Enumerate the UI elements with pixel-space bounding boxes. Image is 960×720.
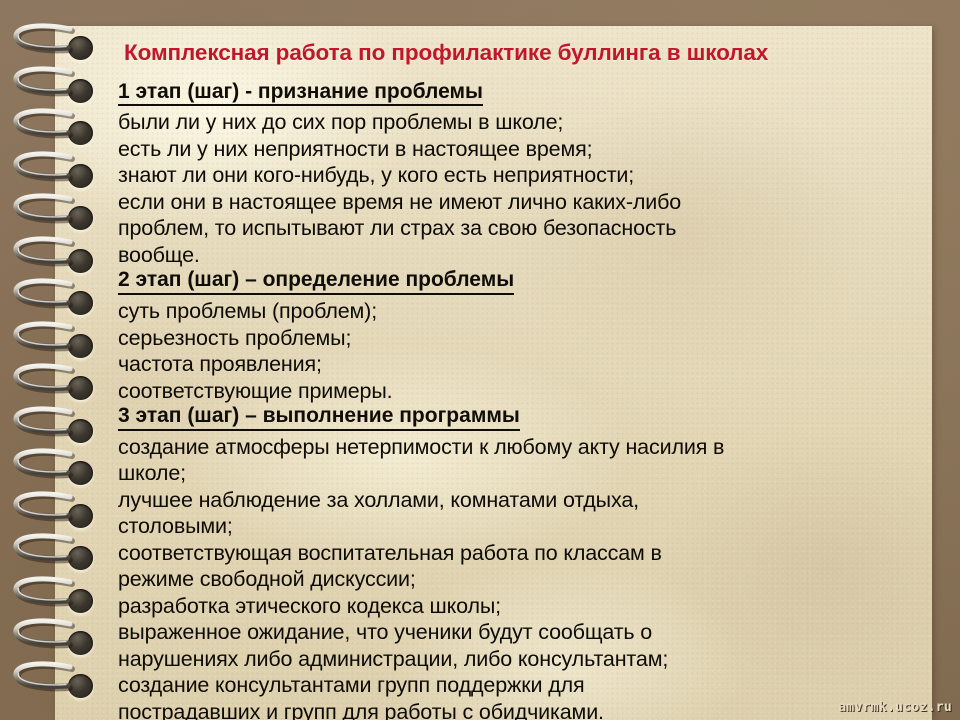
body-line: знают ли они кого-нибудь, у кого есть не… <box>118 162 918 189</box>
body-line: частота проявления; <box>118 351 918 378</box>
body-line: если они в настоящее время не имеют личн… <box>118 189 918 216</box>
step-heading-row: 2 этап (шаг) – определение проблемы <box>118 268 918 296</box>
binding-hole <box>68 546 93 570</box>
page-title: Комплексная работа по профилактике булли… <box>124 40 918 67</box>
step-heading: 2 этап (шаг) – определение проблемы <box>118 268 514 295</box>
binding-hole <box>68 164 93 188</box>
binding-hole <box>68 334 93 358</box>
body-line: суть проблемы (проблем); <box>118 298 918 325</box>
body-line: вообще. <box>118 242 918 269</box>
body-line: разработка этического кодекса школы; <box>118 593 918 620</box>
binding-hole <box>68 419 93 443</box>
body-line: проблем, то испытывают ли страх за свою … <box>118 215 918 242</box>
body-line: создание консультантами групп поддержки … <box>118 672 918 699</box>
binding-hole <box>68 291 93 315</box>
binding-hole <box>68 589 93 613</box>
binding-hole <box>68 376 93 400</box>
body-line: выраженное ожидание, что ученики будут с… <box>118 619 918 646</box>
step-section: 1 этап (шаг) - признание проблемыбыли ли… <box>118 80 918 269</box>
binding-hole <box>68 504 93 528</box>
body-line: пострадавших и групп для работы с обидчи… <box>118 699 918 720</box>
body-line: серьезность проблемы; <box>118 325 918 352</box>
body-line: нарушениях либо администрации, либо конс… <box>118 646 918 673</box>
binding-hole <box>68 674 93 698</box>
slide-content: Комплексная работа по профилактике булли… <box>118 40 918 720</box>
watermark-label: amvrmk.ucoz.ru <box>838 700 952 715</box>
body-line: есть ли у них неприятности в настоящее в… <box>118 136 918 163</box>
body-line: были ли у них до сих пор проблемы в школ… <box>118 109 918 136</box>
step-heading-row: 3 этап (шаг) – выполнение программы <box>118 404 918 432</box>
step-heading: 1 этап (шаг) - признание проблемы <box>118 80 483 107</box>
step-heading: 3 этап (шаг) – выполнение программы <box>118 404 520 431</box>
body-line: лучшее наблюдение за холлами, комнатами … <box>118 487 918 514</box>
binding-hole <box>68 79 93 103</box>
binding-hole <box>68 121 93 145</box>
step-section: 2 этап (шаг) – определение проблемысуть … <box>118 268 918 404</box>
slide-canvas: Комплексная работа по профилактике булли… <box>0 0 960 720</box>
body-line: школе; <box>118 460 918 487</box>
binding-hole <box>68 249 93 273</box>
body-line: соответствующая воспитательная работа по… <box>118 540 918 567</box>
step-heading-row: 1 этап (шаг) - признание проблемы <box>118 80 918 108</box>
body-line: соответствующие примеры. <box>118 378 918 405</box>
binding-hole <box>68 36 93 60</box>
body-line: режиме свободной дискуссии; <box>118 566 918 593</box>
binding-hole <box>68 631 93 655</box>
sections-container: 1 этап (шаг) - признание проблемыбыли ли… <box>118 80 918 720</box>
binding-hole <box>68 206 93 230</box>
step-section: 3 этап (шаг) – выполнение программысозда… <box>118 404 918 720</box>
body-line: столовыми; <box>118 513 918 540</box>
binding-hole <box>68 461 93 485</box>
body-line: создание атмосферы нетерпимости к любому… <box>118 434 918 461</box>
